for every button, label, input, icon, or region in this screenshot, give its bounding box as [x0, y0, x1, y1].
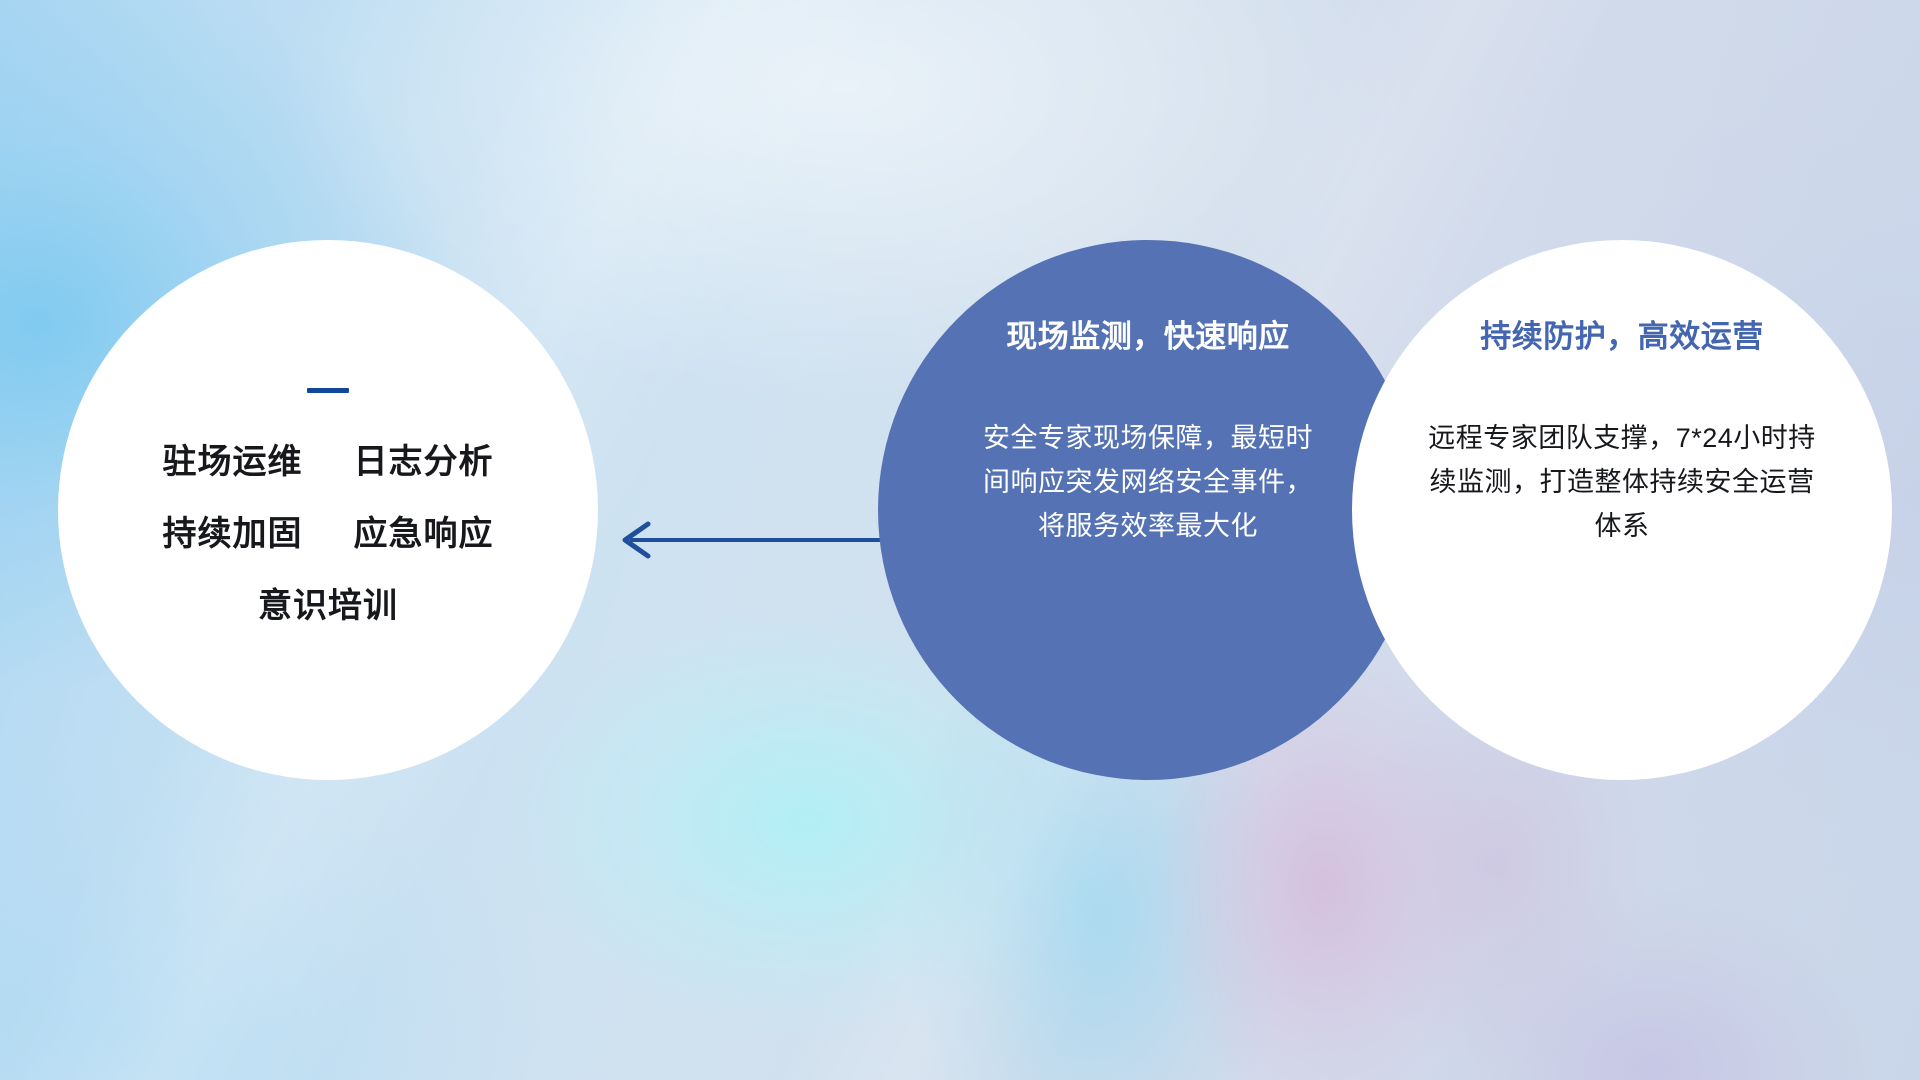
connector-arrow — [600, 518, 900, 562]
capability-item-on-site-ops: 驻场运维 — [163, 443, 303, 481]
right-continuous-circle[interactable]: 持续防护，高效运营 远程专家团队支撑，7*24小时持续监测，打造整体持续安全运营… — [1352, 240, 1892, 780]
middle-circle-title: 现场监测，快速响应 — [924, 318, 1372, 355]
capability-item-awareness-training: 意识培训 — [258, 587, 398, 625]
capability-row-2: 持续加固 应急响应 — [94, 517, 562, 551]
right-circle-body: 远程专家团队支撑，7*24小时持续监测，打造整体持续安全运营体系 — [1416, 417, 1828, 548]
arrow-left-icon — [600, 518, 900, 562]
right-circle-content: 持续防护，高效运营 远程专家团队支撑，7*24小时持续监测，打造整体持续安全运营… — [1352, 318, 1892, 548]
right-circle-title: 持续防护，高效运营 — [1386, 318, 1858, 355]
capability-row-1: 驻场运维 日志分析 — [94, 445, 562, 479]
middle-circle-content: 现场监测，快速响应 安全专家现场保障，最短时间响应突发网络安全事件，将服务效率最… — [878, 318, 1418, 548]
slide-canvas: 驻场运维 日志分析 持续加固 应急响应 意识培训 现场监测，快速响应 安全专家现… — [0, 0, 1920, 1080]
divider-dash-icon — [307, 388, 349, 393]
middle-circle-body: 安全专家现场保障，最短时间响应突发网络安全事件，将服务效率最大化 — [983, 417, 1313, 548]
left-circle-content: 驻场运维 日志分析 持续加固 应急响应 意识培训 — [58, 388, 598, 623]
capability-item-continuous-hardening: 持续加固 — [163, 515, 303, 553]
capability-item-log-analysis: 日志分析 — [353, 443, 493, 481]
capability-row-3: 意识培训 — [94, 589, 562, 623]
middle-onsite-circle[interactable]: 现场监测，快速响应 安全专家现场保障，最短时间响应突发网络安全事件，将服务效率最… — [878, 240, 1418, 780]
capability-item-emergency-response: 应急响应 — [353, 515, 493, 553]
left-capability-circle[interactable]: 驻场运维 日志分析 持续加固 应急响应 意识培训 — [58, 240, 598, 780]
